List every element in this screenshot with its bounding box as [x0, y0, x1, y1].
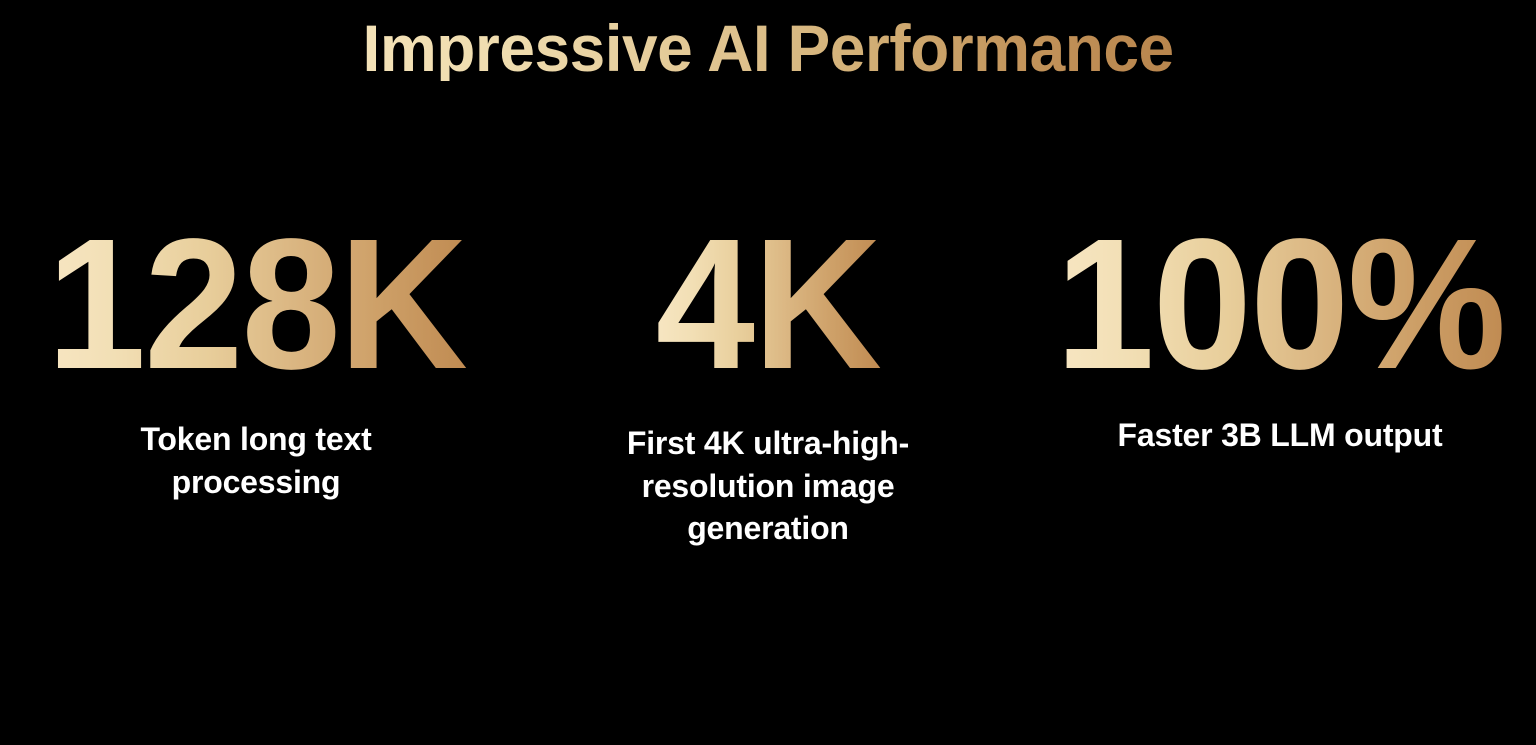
stat-value-128k: 128K: [46, 210, 465, 400]
slide-root: Impressive AI Performance 128K Token lon…: [0, 0, 1536, 745]
stats-row: 128K Token long text processing 4K First…: [0, 210, 1536, 570]
stat-caption-4k: First 4K ultra-high- resolution image ge…: [627, 422, 909, 550]
stat-caption-128k: Token long text processing: [140, 418, 371, 503]
stat-value-100-percent: 100%: [1055, 210, 1504, 400]
stat-card-100-percent: 100% Faster 3B LLM output: [1024, 210, 1536, 570]
stat-card-128k: 128K Token long text processing: [0, 210, 512, 570]
stat-caption-100-percent: Faster 3B LLM output: [1118, 414, 1443, 457]
stat-value-4k: 4K: [656, 210, 880, 400]
stat-card-4k: 4K First 4K ultra-high- resolution image…: [512, 210, 1024, 570]
page-title-container: Impressive AI Performance: [0, 0, 1536, 96]
page-title: Impressive AI Performance: [362, 15, 1173, 81]
